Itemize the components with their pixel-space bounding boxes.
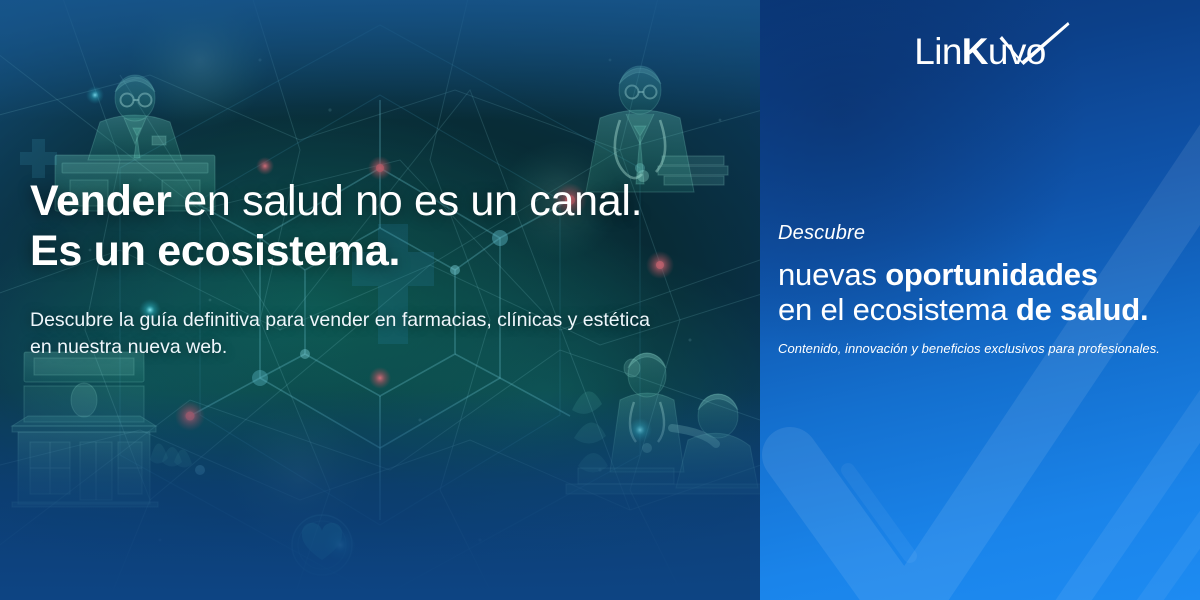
left-bottom-fade [0, 390, 760, 600]
right-headline-bold-2: de salud. [1016, 292, 1149, 327]
left-top-fade [0, 0, 760, 120]
left-subtitle-line-2: en nuestra nueva web. [30, 336, 227, 358]
logo-text-uvo: uvo [988, 31, 1046, 72]
right-headline: nuevas oportunidades en el ecosistema de… [778, 257, 1188, 328]
headline-rest: en salud no es un canal. [172, 177, 643, 225]
left-copy-block: Vender en salud no es un canal. Es un ec… [30, 176, 730, 362]
headline-line-2: Es un ecosistema. [30, 226, 730, 276]
logo-container[interactable]: LinKuvo [760, 33, 1200, 70]
right-headline-bold-1: oportunidades [885, 257, 1098, 292]
left-hero-panel: Vender en salud no es un canal. Es un ec… [0, 0, 760, 600]
pharmacy-cross-sign [20, 139, 57, 178]
headline-bold-vender: Vender [30, 177, 172, 225]
logo-text-lin: Lin [914, 31, 962, 72]
right-eyebrow: Descubre [778, 222, 1188, 245]
linkuvo-logo[interactable]: LinKuvo [914, 33, 1046, 70]
right-headline-light-1: nuevas [778, 257, 885, 292]
right-copy-block: Descubre nuevas oportunidades en el ecos… [778, 222, 1188, 356]
left-subtitle: Descubre la guía definitiva para vender … [30, 307, 720, 362]
promo-banner: Vender en salud no es un canal. Es un ec… [0, 0, 1200, 600]
right-headline-light-2: en el ecosistema [778, 292, 1016, 327]
headline-bold-ecosistema: Es un ecosistema. [30, 227, 400, 275]
left-subtitle-line-1: Descubre la guía definitiva para vender … [30, 309, 650, 331]
right-cta-panel: LinKuvo Descubre nuevas oportunidades en… [760, 0, 1200, 600]
logo-text-k: K [962, 31, 988, 72]
headline-line-1: Vender en salud no es un canal. [30, 176, 730, 226]
right-subtitle: Contenido, innovación y beneficios exclu… [778, 341, 1188, 356]
